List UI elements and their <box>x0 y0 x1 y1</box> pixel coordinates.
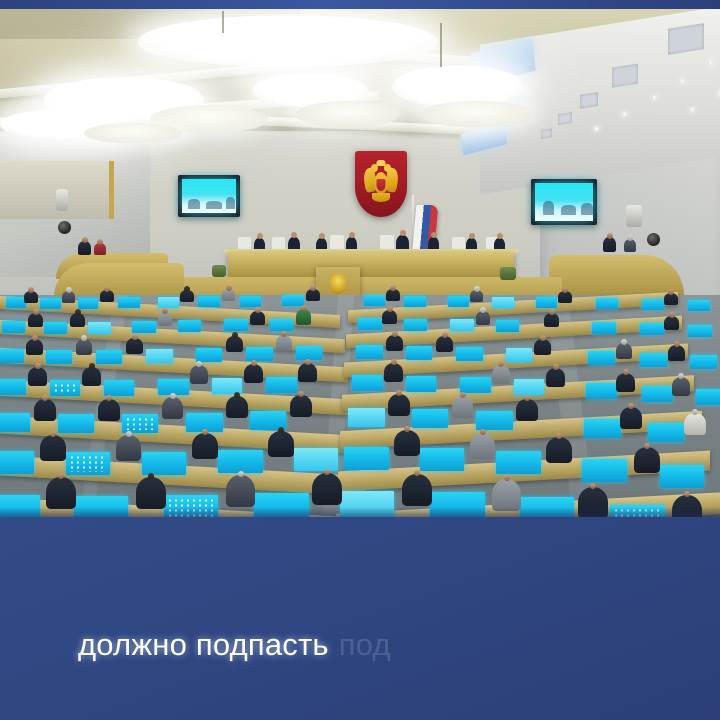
desk-monitor <box>642 299 664 310</box>
desk-monitor <box>406 376 436 392</box>
deputy <box>76 339 92 355</box>
deputy <box>386 289 400 301</box>
deputy <box>616 343 632 359</box>
person <box>603 237 616 252</box>
person-head <box>234 392 240 398</box>
deputy <box>386 335 403 351</box>
person-head <box>674 341 680 347</box>
ceiling-downlight <box>651 94 658 100</box>
deputy <box>470 290 483 302</box>
desk-monitor <box>132 321 156 333</box>
desk-monitor <box>460 377 491 393</box>
deputy <box>70 313 85 327</box>
rostrum-gold-emblem <box>330 274 346 294</box>
person-head <box>148 473 154 479</box>
desk-monitor <box>146 349 173 363</box>
person-head <box>97 239 103 245</box>
desk-monitor <box>688 300 710 311</box>
desk-monitor <box>592 322 616 334</box>
person-head <box>301 305 307 311</box>
ceiling-vent-grille <box>541 128 552 139</box>
person-head <box>170 393 176 399</box>
person-head <box>42 395 48 401</box>
person-head <box>524 395 530 401</box>
person-head <box>396 390 402 396</box>
person-head <box>460 392 466 398</box>
desk-monitor <box>514 379 544 395</box>
eagle-tail <box>372 193 390 202</box>
person-head <box>623 369 629 375</box>
double-headed-eagle-icon <box>364 160 398 202</box>
person-head <box>291 232 297 238</box>
person-head <box>556 433 562 439</box>
desk-monitor <box>66 452 110 475</box>
deputy <box>470 433 495 459</box>
subtitle-spoken-text: должно подпасть <box>78 627 329 662</box>
person-head <box>33 309 39 315</box>
deputy <box>34 399 56 421</box>
person-head <box>106 395 112 401</box>
deputy <box>296 309 311 325</box>
wall-speaker <box>626 205 642 227</box>
deputy <box>492 365 510 384</box>
deputy <box>388 394 410 416</box>
desk-monitor <box>58 414 94 433</box>
desk-monitor <box>588 351 615 365</box>
deputy <box>672 377 690 396</box>
desk-monitor <box>420 448 464 471</box>
person-head <box>497 233 503 239</box>
desk-monitor <box>450 319 474 331</box>
deputy <box>620 407 642 429</box>
deputy <box>312 473 342 505</box>
presidium-desk <box>228 252 514 278</box>
person-head <box>549 309 555 315</box>
chamber-floor <box>0 295 720 517</box>
right-gallery-rail <box>549 255 684 295</box>
desk-monitor <box>352 375 383 391</box>
deputy <box>384 363 403 382</box>
person-head <box>162 308 168 314</box>
desk-monitor <box>104 380 134 396</box>
person-head <box>504 475 510 481</box>
desk-monitor <box>364 295 385 306</box>
chandelier <box>84 123 182 143</box>
deputy <box>98 399 120 421</box>
person-head <box>669 312 675 318</box>
desk-monitor <box>40 298 61 309</box>
person-head <box>184 286 190 292</box>
eagle-breast-shield <box>377 179 386 191</box>
right-screen-content <box>535 183 593 221</box>
chandelier <box>296 101 400 127</box>
deputy <box>180 290 194 302</box>
person-head <box>414 470 420 476</box>
deputy <box>634 447 660 473</box>
desk-monitor <box>158 297 179 308</box>
chandelier-stem <box>440 23 442 67</box>
left-screen-content <box>182 179 236 213</box>
deputy <box>534 339 551 355</box>
desk-monitor <box>404 319 427 331</box>
deputy <box>162 397 183 419</box>
person-head <box>607 233 613 239</box>
person-head <box>480 307 486 313</box>
person-head <box>226 285 232 291</box>
deputy <box>28 313 43 327</box>
deputy <box>226 396 248 418</box>
person-head <box>232 332 238 338</box>
desk-monitor <box>266 377 297 393</box>
desk-monitor <box>2 321 25 333</box>
person-head <box>668 289 674 295</box>
desk-monitor <box>294 448 338 471</box>
desk-monitor <box>696 389 720 405</box>
desk-monitor <box>596 298 618 309</box>
left-dais-rail <box>54 263 184 297</box>
deputy <box>546 437 572 463</box>
desk-monitor <box>44 322 67 334</box>
person-head <box>104 286 110 292</box>
person-head <box>628 403 634 409</box>
ceiling-downlight <box>689 106 696 112</box>
deputy <box>516 399 538 421</box>
desk-monitor <box>0 349 24 363</box>
deputy <box>244 364 263 383</box>
deputy <box>664 316 679 330</box>
person-head <box>390 285 396 291</box>
person-head <box>431 232 437 238</box>
person-head <box>627 235 633 241</box>
desk-monitor <box>246 347 273 361</box>
deputy <box>664 293 678 305</box>
desk-monitor <box>142 452 186 475</box>
ceiling-downlight <box>621 111 628 117</box>
deputy <box>452 396 473 418</box>
desk-monitor <box>50 380 80 396</box>
top-blue-strip <box>0 0 720 9</box>
deputy <box>616 373 635 392</box>
camera-icon <box>647 233 660 246</box>
person-head <box>75 309 81 315</box>
person-head <box>238 471 244 477</box>
person-head <box>392 331 398 337</box>
desk-monitor <box>404 296 426 307</box>
desk-monitor <box>282 295 304 306</box>
desk-monitor <box>198 296 220 307</box>
deputy <box>62 291 75 303</box>
deputy <box>684 413 706 435</box>
deputy <box>116 435 141 461</box>
desk-monitor <box>270 319 293 331</box>
desk-monitor <box>584 419 621 438</box>
desk-monitor <box>456 347 483 361</box>
chandelier <box>420 101 532 127</box>
deputy <box>26 339 43 355</box>
desk-monitor <box>240 296 261 307</box>
deputy <box>226 475 255 507</box>
person-head <box>58 473 64 479</box>
subtitle-line: должно подпастьпод <box>78 628 391 662</box>
person-head <box>81 335 87 341</box>
person-head <box>126 431 132 437</box>
desk-monitor <box>476 411 513 430</box>
ceiling-downlight <box>593 126 600 132</box>
desk-monitor <box>358 318 382 330</box>
person-head <box>319 233 325 239</box>
deputy <box>190 365 208 384</box>
desk-monitor <box>648 423 684 442</box>
person <box>94 243 106 255</box>
person-head <box>469 233 475 239</box>
deputy <box>226 336 243 352</box>
video-frame <box>0 9 720 517</box>
deputy <box>46 477 76 509</box>
deputy <box>100 290 114 302</box>
desk-monitor <box>348 408 385 427</box>
deputy <box>476 311 490 325</box>
deputy <box>544 313 559 327</box>
desk-monitor <box>118 297 140 308</box>
person-head <box>480 429 486 435</box>
desk-monitor <box>344 447 389 470</box>
person-head <box>50 431 56 437</box>
potted-plant <box>500 267 516 280</box>
desk-monitor <box>492 297 514 308</box>
deputy <box>558 291 572 303</box>
desk-monitor <box>96 350 122 364</box>
deputy <box>136 477 166 509</box>
deputy <box>298 363 317 382</box>
deputy <box>546 368 565 387</box>
deputy <box>126 338 143 354</box>
person-head <box>255 307 261 313</box>
deputy <box>668 345 685 361</box>
person-head <box>678 373 684 379</box>
desk-monitor <box>224 319 248 331</box>
deputy <box>192 433 218 459</box>
desk-monitor <box>582 459 627 482</box>
person-head <box>621 339 627 345</box>
deputy <box>382 310 397 324</box>
ceiling-downlight <box>707 60 714 66</box>
person-head <box>562 287 568 293</box>
deputy <box>250 311 265 325</box>
deputy <box>394 430 420 456</box>
desk-monitor <box>178 320 201 332</box>
desk-monitor <box>88 322 111 334</box>
deputy <box>268 431 294 457</box>
desk-monitor <box>0 451 34 474</box>
ceiling-vent-grille <box>580 92 598 109</box>
person-head <box>590 483 596 489</box>
desk-monitor <box>690 355 717 369</box>
person-head <box>251 360 257 366</box>
desk-monitor <box>642 386 673 402</box>
person-head <box>684 491 690 497</box>
desk-monitor <box>406 346 432 360</box>
russian-coat-of-arms <box>355 151 407 217</box>
person-head <box>324 469 330 475</box>
ceiling-vent-grille <box>558 112 572 125</box>
deputy <box>158 312 172 326</box>
person-head <box>692 409 698 415</box>
desk-monitor <box>296 346 322 360</box>
desk-monitor <box>640 323 664 335</box>
person-head <box>35 363 41 369</box>
desk-monitor <box>196 348 222 362</box>
ceiling-downlight <box>679 78 686 84</box>
deputy <box>306 289 320 301</box>
right-display-screen <box>531 179 597 225</box>
desk-monitor <box>506 348 532 362</box>
deputy <box>28 367 47 386</box>
desk-monitor <box>0 413 30 432</box>
desk-monitor <box>46 350 72 364</box>
desk-monitor <box>496 451 541 474</box>
person-head <box>387 306 393 312</box>
person-head <box>310 285 316 291</box>
person-head <box>442 332 448 338</box>
subtitle-upcoming-text: под <box>339 627 391 662</box>
desk-monitor <box>660 465 704 488</box>
person-head <box>553 364 559 370</box>
person <box>624 239 636 252</box>
deputy <box>276 335 292 351</box>
desk-monitor <box>448 296 469 307</box>
desk-monitor <box>412 409 448 428</box>
wall-speaker <box>56 189 68 211</box>
deputy <box>402 474 432 506</box>
desk-monitor <box>496 320 519 332</box>
video-bottom-fade <box>0 507 720 517</box>
person-head <box>82 237 88 243</box>
potted-plant <box>212 265 226 277</box>
chandelier <box>138 15 438 67</box>
person-head <box>32 335 38 341</box>
video-subtitle-frame: должно подпастьпод <box>0 0 720 720</box>
person-head <box>281 331 287 337</box>
person-head <box>132 334 138 340</box>
ceiling-vent-grille <box>612 64 638 88</box>
camera-icon <box>58 221 71 234</box>
person-head <box>349 232 355 238</box>
deputy <box>40 435 66 461</box>
person-head <box>540 335 546 341</box>
person-head <box>391 359 397 365</box>
desk-monitor <box>640 353 667 367</box>
deputy <box>24 291 38 303</box>
person-head <box>66 287 72 293</box>
person-head <box>400 230 406 236</box>
person-head <box>474 286 480 292</box>
person-head <box>298 391 304 397</box>
person <box>78 241 91 255</box>
person-head <box>644 443 650 449</box>
deputy <box>222 289 235 301</box>
person-head <box>28 287 34 293</box>
desk-monitor <box>78 298 98 309</box>
person-head <box>257 233 263 239</box>
desk-monitor <box>688 325 712 337</box>
ceiling-vent-grille <box>668 23 704 55</box>
chandelier-stem <box>222 11 224 33</box>
desk-monitor <box>536 297 557 308</box>
person-head <box>89 363 95 369</box>
desk-monitor <box>0 379 26 395</box>
desk-monitor <box>356 345 383 359</box>
person-head <box>202 429 208 435</box>
desk-monitor <box>586 383 617 399</box>
desk-monitor <box>6 297 26 308</box>
left-display-screen <box>178 175 240 217</box>
person-head <box>404 426 410 432</box>
deputy <box>82 367 101 386</box>
person-head <box>498 361 504 367</box>
deputy <box>436 336 453 352</box>
desk-monitor <box>218 450 263 473</box>
person-head <box>196 361 202 367</box>
deputy <box>290 395 312 417</box>
person-head <box>305 359 311 365</box>
person-head <box>278 427 284 433</box>
